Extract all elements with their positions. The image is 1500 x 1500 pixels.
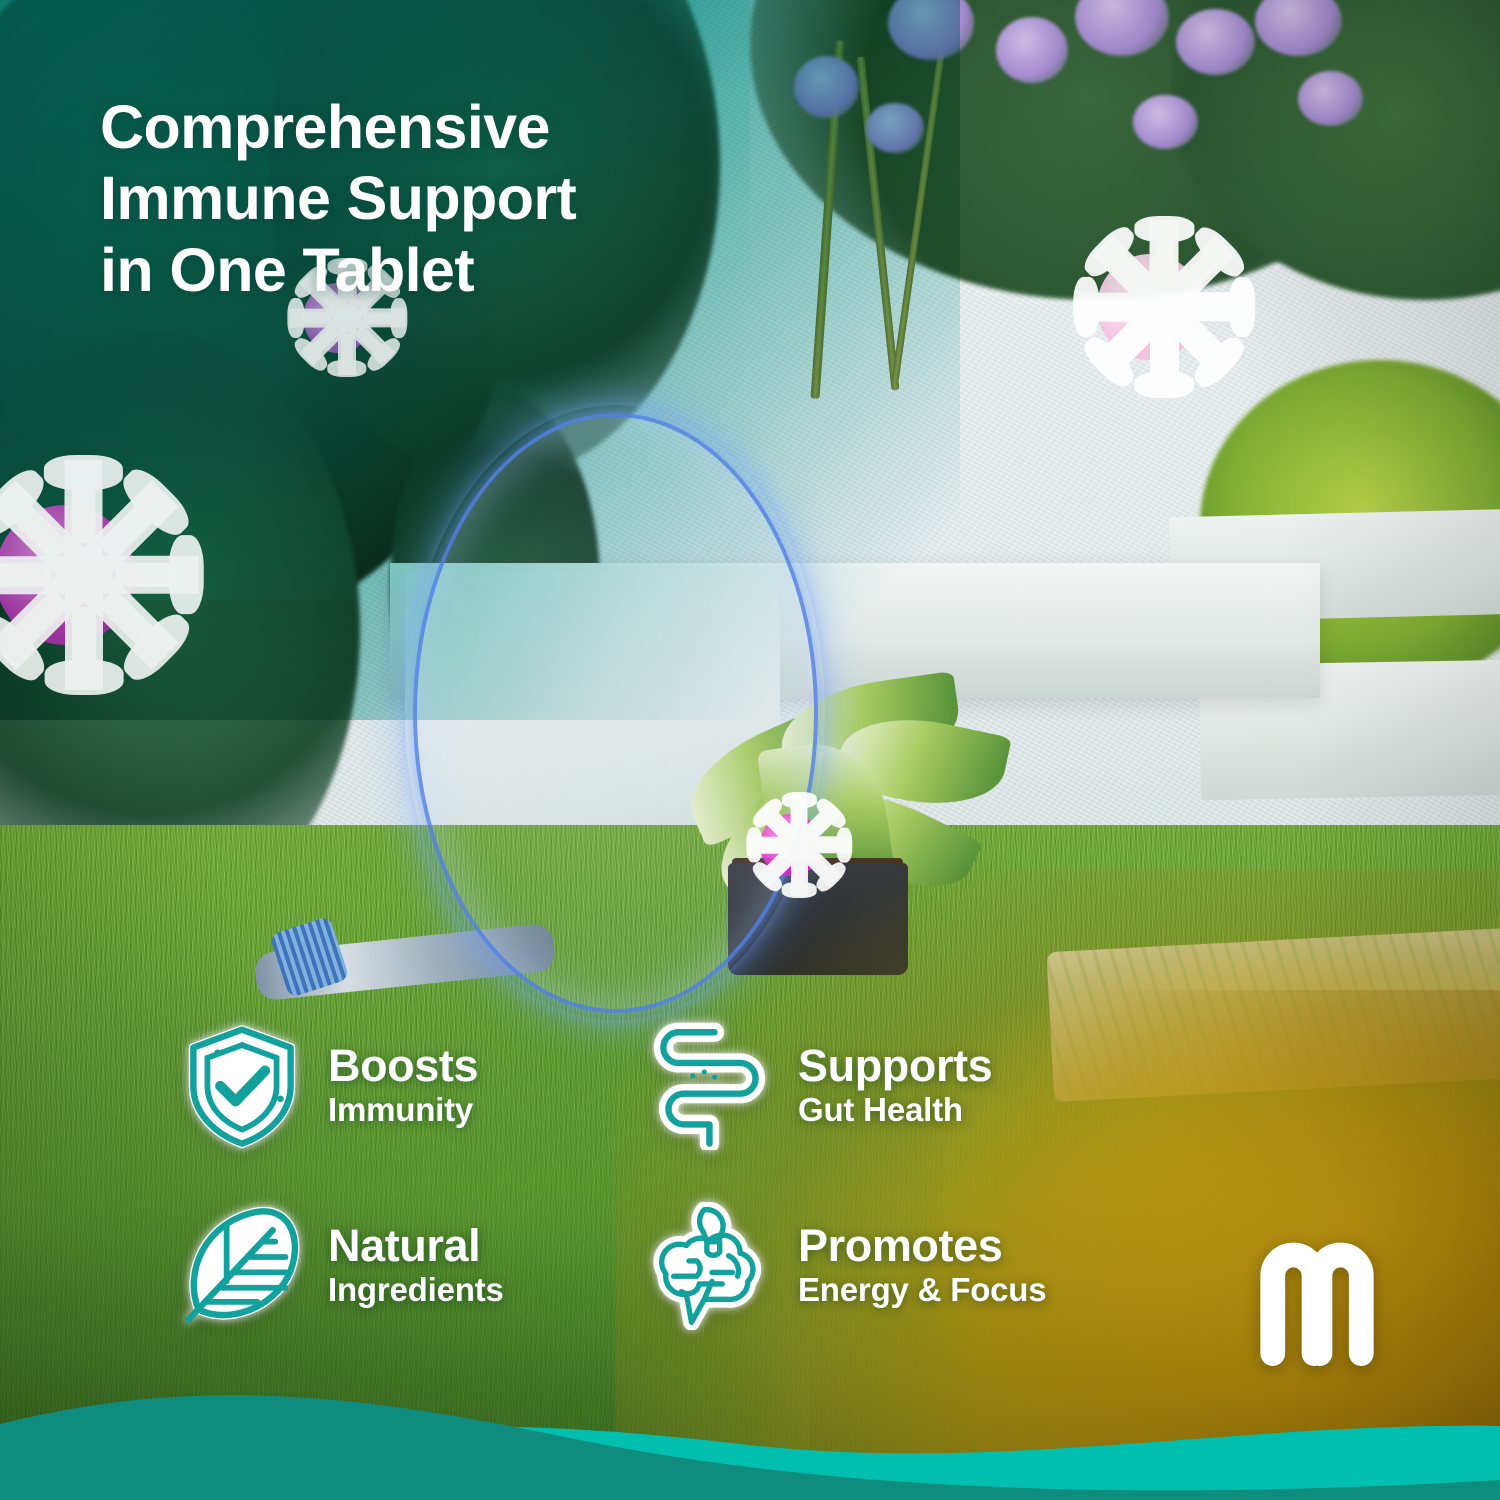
feature-label: Supports Gut Health bbox=[798, 1043, 992, 1130]
virus-particle-magenta-left bbox=[0, 450, 190, 700]
feature-subtitle: Ingredients bbox=[328, 1272, 504, 1309]
feature-title: Promotes bbox=[798, 1223, 1046, 1269]
feature-title: Boosts bbox=[328, 1043, 478, 1089]
feature-row-2: Natural Ingredients bbox=[178, 1202, 1098, 1330]
brain-lightbulb-icon bbox=[648, 1202, 776, 1330]
feature-subtitle: Gut Health bbox=[798, 1092, 992, 1129]
feature-label: Boosts Immunity bbox=[328, 1043, 478, 1130]
headline-line-3: in One Tablet bbox=[100, 235, 860, 306]
bottom-wave-decoration bbox=[0, 1340, 1500, 1500]
feature-label: Natural Ingredients bbox=[328, 1223, 504, 1310]
feature-promotes-energy-focus: Promotes Energy & Focus bbox=[648, 1202, 1098, 1330]
feature-subtitle: Immunity bbox=[328, 1092, 478, 1129]
leaf-icon bbox=[178, 1202, 306, 1330]
feature-boosts-immunity: Boosts Immunity bbox=[178, 1022, 648, 1150]
feature-title: Supports bbox=[798, 1043, 992, 1089]
product-marketing-image: Comprehensive Immune Support in One Tabl… bbox=[0, 0, 1500, 1500]
headline: Comprehensive Immune Support in One Tabl… bbox=[100, 92, 860, 306]
feature-row-1: Boosts Immunity bbox=[178, 1022, 1098, 1150]
feature-label: Promotes Energy & Focus bbox=[798, 1223, 1046, 1310]
feature-supports-gut-health: Supports Gut Health bbox=[648, 1022, 1098, 1150]
virus-particle-pink-topright bbox=[1055, 212, 1245, 402]
feature-grid: Boosts Immunity bbox=[178, 1022, 1098, 1330]
feature-natural-ingredients: Natural Ingredients bbox=[178, 1202, 648, 1330]
headline-line-1: Comprehensive bbox=[100, 92, 860, 163]
intestine-icon bbox=[648, 1022, 776, 1150]
headline-line-2: Immune Support bbox=[100, 163, 860, 234]
blue-protective-bubble bbox=[413, 413, 818, 1013]
virus-particle-magenta-plant bbox=[736, 790, 846, 900]
feature-title: Natural bbox=[328, 1223, 504, 1269]
shield-check-icon bbox=[178, 1022, 306, 1150]
feature-subtitle: Energy & Focus bbox=[798, 1272, 1046, 1309]
